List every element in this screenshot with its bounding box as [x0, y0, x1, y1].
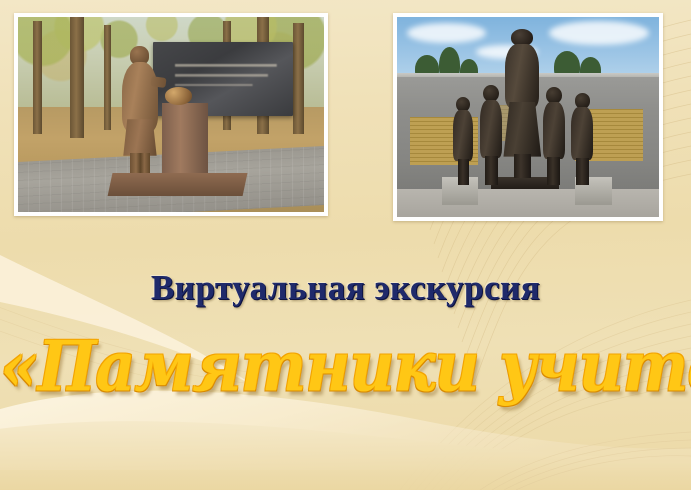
title-slide: Виртуальная экскурсия «Памятники учителя…: [0, 0, 691, 490]
child-body: [543, 102, 565, 159]
bronze-child-figure: [452, 97, 476, 185]
child-legs: [458, 159, 470, 185]
bronze-teacher-figure: [119, 46, 162, 186]
photo-monument-teacher-with-children[interactable]: [393, 13, 663, 221]
monument-base: [107, 173, 247, 196]
tree-trunk: [70, 17, 84, 138]
cloud: [407, 23, 486, 43]
bronze-child-figure: [541, 87, 567, 185]
child-body: [480, 100, 502, 158]
tree-trunk: [33, 21, 42, 134]
photo-left-inner: [18, 17, 324, 212]
paved-ground: [397, 189, 659, 217]
bronze-teacher-figure: [502, 29, 544, 181]
child-body: [571, 107, 593, 160]
photo-monument-teacher-with-globe[interactable]: [14, 13, 328, 216]
bronze-child-figure: [570, 93, 596, 185]
engraved-inscription: [175, 59, 285, 93]
tree-trunk: [293, 23, 304, 134]
child-legs: [576, 158, 589, 185]
photo-right-inner: [397, 17, 659, 217]
slide-subtitle: Виртуальная экскурсия: [0, 268, 691, 308]
figure-skirt: [503, 102, 541, 157]
bottom-band: [0, 421, 691, 490]
figure-skirt: [123, 119, 156, 156]
figure-torso: [505, 44, 539, 108]
tree-trunk: [104, 25, 112, 130]
child-legs: [547, 157, 560, 185]
figure-arm: [150, 76, 166, 88]
child-body: [453, 110, 473, 161]
cloud: [549, 21, 649, 45]
bronze-globe: [165, 87, 193, 105]
bronze-child-figure: [478, 85, 504, 185]
figure-legs: [514, 154, 532, 178]
slide-title: «Памятники учителям»: [0, 326, 691, 408]
memorial-scene: [397, 17, 659, 217]
child-legs: [485, 156, 498, 185]
park-scene: [18, 17, 324, 212]
